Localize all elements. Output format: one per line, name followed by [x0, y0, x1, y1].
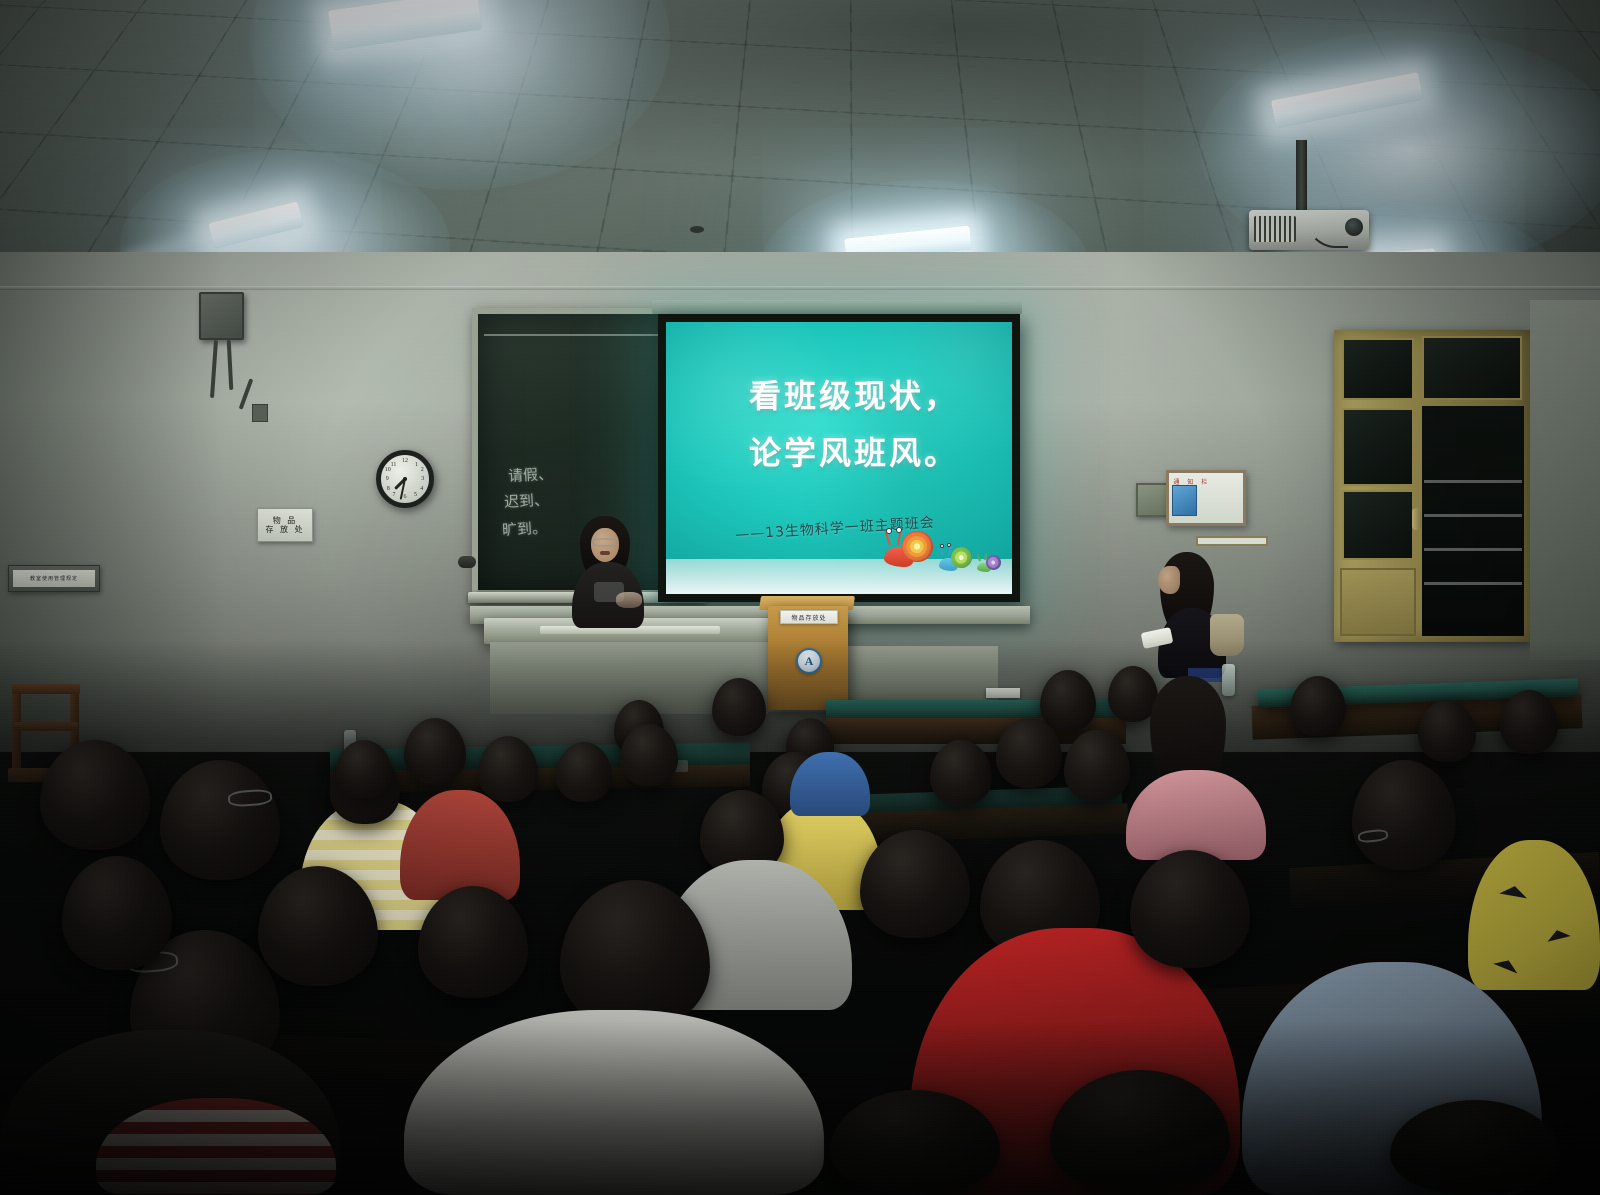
audience-head	[336, 740, 392, 798]
chair-slat-mid	[14, 722, 78, 731]
clock-numeral: 4	[420, 486, 423, 492]
blackboard-chalk-line3: 旷到。	[501, 517, 547, 540]
classroom-photo: 12 3 6 9 1 2 4 5 7 8 10 11 物 品 存 放 处 教室使…	[0, 0, 1600, 1195]
clock-numeral: 7	[392, 492, 395, 498]
snail-eye-right	[896, 527, 902, 533]
slide-title-line1: 看班级现状，	[749, 371, 959, 417]
audience-head	[1352, 760, 1456, 870]
clock-numeral: 12	[402, 458, 408, 464]
audience-head	[1418, 700, 1476, 762]
wall-plaque: 教室使用管理规定	[8, 565, 100, 592]
presenter	[566, 516, 652, 628]
audience-white-tshirt	[404, 1010, 824, 1195]
audience-head	[1130, 850, 1250, 968]
clock-numeral: 9	[386, 476, 389, 482]
whiteboard: 通 知 栏	[1166, 470, 1246, 526]
wall-frame	[1196, 536, 1268, 546]
blackboard-chalk-line1: 请假、	[507, 463, 553, 486]
audience-head	[1040, 670, 1096, 732]
audience-head	[860, 830, 970, 938]
standing-woman-face	[1158, 566, 1180, 594]
screen-roller	[652, 300, 1022, 314]
clock-numeral: 3	[421, 476, 424, 482]
snail-icon-small	[977, 553, 1003, 573]
storage-sign: 物 品 存 放 处	[257, 508, 313, 542]
podium: 物品存放处 A	[768, 606, 848, 710]
clock-numeral: 11	[391, 462, 397, 468]
projection-screen: 看班级现状， 论学风班风。 ——13生物科学一班主题班会	[658, 314, 1020, 602]
snail-eye-left	[940, 544, 944, 548]
clock-numeral: 5	[414, 492, 417, 498]
desk-paper	[986, 688, 1020, 698]
standing-woman	[1140, 552, 1260, 677]
clock-face: 12 3 6 9 1 2 4 5 7 8 10 11	[381, 455, 429, 503]
door-transom-left	[1342, 338, 1414, 400]
snail-antenna-left	[977, 554, 981, 561]
presenter-hand	[616, 592, 642, 608]
snail-eye-left	[886, 528, 892, 534]
door-transom-right	[1422, 336, 1522, 400]
clock-numeral: 1	[415, 462, 418, 468]
door-glass-upper	[1342, 408, 1414, 486]
snail-shell	[986, 555, 1001, 570]
snail-icon-medium	[939, 545, 973, 571]
blackboard-eraser	[458, 556, 476, 568]
chair-slat-top	[12, 684, 80, 694]
podium-sign: 物品存放处	[780, 610, 838, 624]
presenter-glasses-icon	[592, 538, 618, 547]
audience-head	[40, 740, 150, 850]
wall-socket	[252, 404, 268, 422]
snail-icon-large	[884, 529, 936, 569]
blackboard-chalk-line2: 迟到、	[503, 489, 549, 512]
wall-plaque-text: 教室使用管理规定	[13, 570, 95, 587]
audience-head	[712, 678, 766, 736]
door-handle[interactable]	[1412, 508, 1421, 530]
slide-surface: 看班级现状， 论学风班风。 ——13生物科学一班主题班会	[666, 322, 1012, 594]
audience-head	[620, 724, 678, 786]
storage-sign-line2: 存 放 处	[265, 525, 304, 534]
blackboard-top-line	[484, 334, 684, 336]
snail-shell	[951, 547, 972, 568]
slide-title-line2: 论学风班风。	[749, 428, 959, 474]
wall-seam	[0, 286, 1600, 290]
audience-head	[1290, 676, 1346, 736]
audience-pink-top	[1126, 770, 1266, 860]
electrical-box	[199, 292, 244, 340]
storage-sign-line1: 物 品	[273, 516, 298, 525]
projector-vent	[1254, 216, 1296, 242]
clock-center-pin	[403, 477, 407, 481]
ceiling-detector-icon	[690, 226, 704, 233]
clock-numeral: 10	[385, 467, 391, 473]
audience-head	[62, 856, 172, 970]
door[interactable]	[1334, 330, 1530, 642]
podium-logo-letter: A	[805, 654, 814, 669]
wall-clock: 12 3 6 9 1 2 4 5 7 8 10 11	[376, 450, 434, 508]
right-wall-strip	[1530, 300, 1600, 660]
podium-logo: A	[796, 648, 822, 674]
clock-numeral: 6	[404, 494, 407, 500]
standing-woman-bag	[1210, 614, 1244, 656]
presenter-mouth	[600, 551, 610, 555]
audience-head	[556, 742, 612, 802]
door-glass-lower	[1342, 490, 1414, 560]
water-bottle-1	[1222, 664, 1235, 696]
clock-numeral: 2	[421, 467, 424, 473]
clock-numeral: 8	[387, 486, 390, 492]
door-kick-panel	[1340, 568, 1416, 636]
window-security-bars	[1424, 480, 1522, 610]
audience-head	[160, 760, 280, 880]
audience-red-shirt	[400, 790, 520, 900]
snail-shell	[902, 531, 933, 562]
projector-mount-pole	[1296, 140, 1307, 218]
whiteboard-poster	[1172, 485, 1197, 516]
audience-head	[418, 886, 528, 998]
